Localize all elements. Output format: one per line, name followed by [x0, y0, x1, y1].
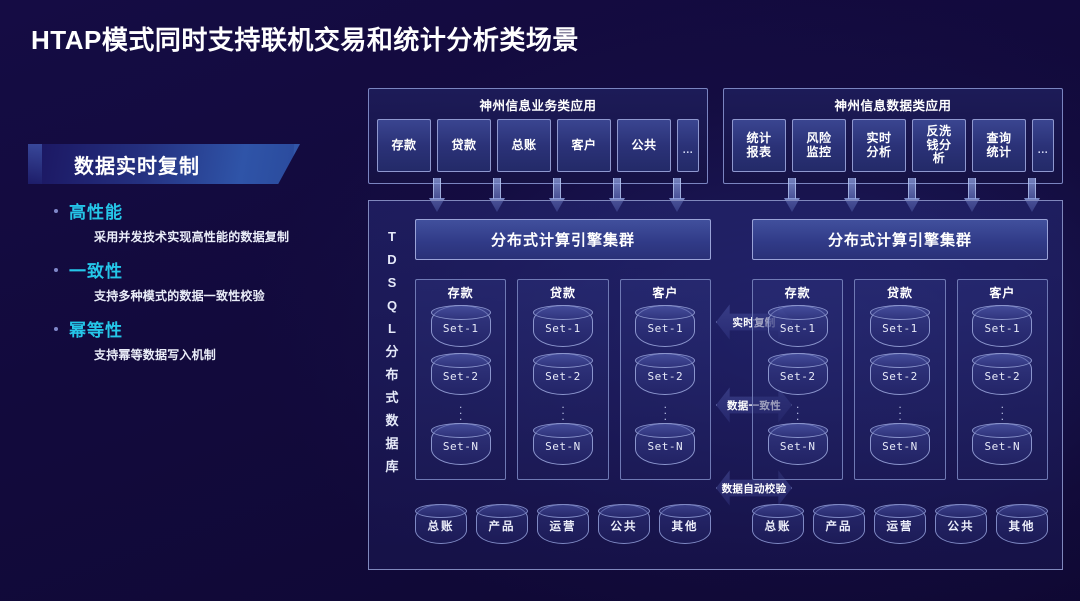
bottom-cylinder-label: 运营 — [887, 518, 914, 534]
set-cylinder: Set-N — [972, 423, 1032, 465]
bottom-cylinder-row: 总账 产品 运营 公共 其他 — [415, 504, 711, 544]
set-column: 贷款 Set-1 Set-2 ... Set-N — [517, 279, 608, 480]
bottom-cylinder-label: 公共 — [948, 518, 975, 534]
app-chip-row: 存款 贷款 总账 客户 公共 … — [377, 119, 699, 172]
set-label: Set-N — [648, 440, 684, 453]
tdsql-label-char: T — [379, 225, 405, 248]
app-chip[interactable]: 贷款 — [437, 119, 491, 172]
app-group-title: 神州信息业务类应用 — [377, 95, 699, 114]
bullet-row: 幂等性 — [54, 316, 338, 341]
slide-canvas: HTAP模式同时支持联机交易和统计分析类场景 数据实时复制 高性能 采用并发技术… — [0, 0, 1080, 601]
tdsql-label-char: D — [379, 248, 405, 271]
set-cylinder: Set-1 — [870, 305, 930, 347]
page-title: HTAP模式同时支持联机交易和统计分析类场景 — [31, 20, 579, 57]
bottom-cylinder: 运营 — [537, 504, 589, 544]
bottom-cylinder-row: 总账 产品 运营 公共 其他 — [752, 504, 1048, 544]
bottom-cylinder: 产品 — [476, 504, 528, 544]
app-chip-row: 统计报表 风险监控 实时分析 反洗钱分析 查询统计 … — [732, 119, 1054, 172]
bottom-cylinder: 产品 — [813, 504, 865, 544]
set-column: 客户 Set-1 Set-2 ... Set-N — [957, 279, 1048, 480]
app-chip[interactable]: 客户 — [557, 119, 611, 172]
set-column-title: 贷款 — [861, 284, 938, 301]
set-cylinder: Set-N — [635, 423, 695, 465]
set-label: Set-N — [545, 440, 581, 453]
tdsql-label-char: L — [379, 317, 405, 340]
set-cylinder: Set-2 — [768, 353, 828, 395]
banner-accent-bar — [28, 144, 42, 184]
set-label: Set-2 — [648, 370, 684, 383]
set-cylinder: Set-1 — [972, 305, 1032, 347]
bullet-dot-icon — [54, 268, 58, 272]
bottom-cylinder-label: 其他 — [672, 518, 699, 534]
bottom-cylinder-label: 公共 — [611, 518, 638, 534]
set-column-title: 客户 — [964, 284, 1041, 301]
tdsql-label-char: 数 — [379, 409, 405, 432]
feature-banner-title: 数据实时复制 — [74, 150, 200, 179]
set-label: Set-2 — [545, 370, 581, 383]
set-label: Set-1 — [545, 322, 581, 335]
compute-engine-bar: 分布式计算引擎集群 — [415, 219, 711, 260]
tdsql-label-char: 式 — [379, 386, 405, 409]
set-label: Set-N — [985, 440, 1021, 453]
set-column: 存款 Set-1 Set-2 ... Set-N — [415, 279, 506, 480]
set-cylinder: Set-2 — [635, 353, 695, 395]
set-label: Set-2 — [882, 370, 918, 383]
set-label: Set-2 — [985, 370, 1021, 383]
vertical-ellipsis-icon: ... — [964, 401, 1041, 419]
app-chip[interactable]: 统计报表 — [732, 119, 786, 172]
bottom-cylinder: 其他 — [996, 504, 1048, 544]
cluster-left: 分布式计算引擎集群 存款 Set-1 Set-2 ... Set-N 贷款 Se… — [415, 201, 711, 571]
bottom-cylinder-label: 产品 — [489, 518, 516, 534]
bullet-dot-icon — [54, 209, 58, 213]
set-cylinder: Set-N — [870, 423, 930, 465]
bullet-item-2: 幂等性 支持幂等数据写入机制 — [54, 316, 338, 363]
set-column-title: 贷款 — [524, 284, 601, 301]
set-cylinder: Set-1 — [533, 305, 593, 347]
set-label: Set-1 — [882, 322, 918, 335]
app-group-business: 神州信息业务类应用 存款 贷款 总账 客户 公共 … — [368, 88, 708, 184]
bottom-cylinder-label: 总账 — [428, 518, 455, 534]
app-chip[interactable]: 公共 — [617, 119, 671, 172]
set-column-row: 存款 Set-1 Set-2 ... Set-N 贷款 Set-1 Set-2 … — [415, 279, 711, 480]
bottom-cylinder: 公共 — [598, 504, 650, 544]
app-group-title: 神州信息数据类应用 — [732, 95, 1054, 114]
app-chip-overflow[interactable]: … — [1032, 119, 1054, 172]
tdsql-label-char: 据 — [379, 432, 405, 455]
bullet-heading: 高性能 — [69, 198, 123, 223]
app-group-data: 神州信息数据类应用 统计报表 风险监控 实时分析 反洗钱分析 查询统计 … — [723, 88, 1063, 184]
bullet-description: 支持多种模式的数据一致性校验 — [94, 287, 338, 304]
bullet-heading: 一致性 — [69, 257, 123, 282]
bullet-row: 一致性 — [54, 257, 338, 282]
set-cylinder: Set-2 — [431, 353, 491, 395]
compute-engine-bar: 分布式计算引擎集群 — [752, 219, 1048, 260]
bottom-cylinder-label: 产品 — [826, 518, 853, 534]
bottom-cylinder: 其他 — [659, 504, 711, 544]
set-cylinder: Set-1 — [768, 305, 828, 347]
cluster-right: 分布式计算引擎集群 存款 Set-1 Set-2 ... Set-N 贷款 Se… — [752, 201, 1048, 571]
tdsql-label-char: Q — [379, 294, 405, 317]
architecture-diagram: 神州信息业务类应用 存款 贷款 总账 客户 公共 … 神州信息数据类应用 统计报… — [368, 88, 1063, 570]
app-chip[interactable]: 反洗钱分析 — [912, 119, 966, 172]
vertical-ellipsis-icon: ... — [861, 401, 938, 419]
set-column-title: 存款 — [422, 284, 499, 301]
set-cylinder: Set-N — [431, 423, 491, 465]
bottom-cylinder: 总账 — [415, 504, 467, 544]
bullet-dot-icon — [54, 327, 58, 331]
set-column-title: 客户 — [627, 284, 704, 301]
set-column: 客户 Set-1 Set-2 ... Set-N — [620, 279, 711, 480]
vertical-ellipsis-icon: ... — [627, 401, 704, 419]
feature-banner: 数据实时复制 — [28, 144, 300, 184]
app-chip[interactable]: 存款 — [377, 119, 431, 172]
bottom-cylinder: 运营 — [874, 504, 926, 544]
tdsql-vertical-label: T D S Q L 分 布 式 数 据 库 — [379, 225, 405, 478]
feature-bullet-list: 高性能 采用并发技术实现高性能的数据复制 一致性 支持多种模式的数据一致性校验 … — [28, 198, 338, 363]
set-label: Set-N — [882, 440, 918, 453]
bullet-item-0: 高性能 采用并发技术实现高性能的数据复制 — [54, 198, 338, 245]
set-label: Set-1 — [780, 322, 816, 335]
set-cylinder: Set-2 — [972, 353, 1032, 395]
set-cylinder: Set-1 — [431, 305, 491, 347]
bottom-cylinder: 公共 — [935, 504, 987, 544]
set-cylinder: Set-2 — [533, 353, 593, 395]
vertical-ellipsis-icon: ... — [759, 401, 836, 419]
bullet-description: 采用并发技术实现高性能的数据复制 — [94, 228, 338, 245]
app-chip[interactable]: 总账 — [497, 119, 551, 172]
tdsql-label-char: 布 — [379, 363, 405, 386]
set-cylinder: Set-N — [533, 423, 593, 465]
set-label: Set-N — [780, 440, 816, 453]
app-chip[interactable]: 风险监控 — [792, 119, 846, 172]
set-label: Set-N — [443, 440, 479, 453]
tdsql-label-char: 库 — [379, 455, 405, 478]
bullet-row: 高性能 — [54, 198, 338, 223]
app-chip[interactable]: 实时分析 — [852, 119, 906, 172]
vertical-ellipsis-icon: ... — [422, 401, 499, 419]
app-chip-overflow[interactable]: … — [677, 119, 699, 172]
vertical-ellipsis-icon: ... — [524, 401, 601, 419]
bottom-cylinder: 总账 — [752, 504, 804, 544]
tdsql-panel: T D S Q L 分 布 式 数 据 库 分布式计算引擎集群 存款 Set-1 — [368, 200, 1063, 570]
set-label: Set-2 — [443, 370, 479, 383]
set-label: Set-1 — [443, 322, 479, 335]
bullet-heading: 幂等性 — [69, 316, 123, 341]
feature-panel: 数据实时复制 高性能 采用并发技术实现高性能的数据复制 一致性 支持多种模式的数… — [28, 144, 338, 375]
bullet-description: 支持幂等数据写入机制 — [94, 346, 338, 363]
set-column-row: 存款 Set-1 Set-2 ... Set-N 贷款 Set-1 Set-2 … — [752, 279, 1048, 480]
tdsql-label-char: 分 — [379, 340, 405, 363]
set-label: Set-2 — [780, 370, 816, 383]
set-column: 存款 Set-1 Set-2 ... Set-N — [752, 279, 843, 480]
bottom-cylinder-label: 运营 — [550, 518, 577, 534]
set-column-title: 存款 — [759, 284, 836, 301]
set-cylinder: Set-2 — [870, 353, 930, 395]
set-cylinder: Set-1 — [635, 305, 695, 347]
bottom-cylinder-label: 其他 — [1009, 518, 1036, 534]
set-column: 贷款 Set-1 Set-2 ... Set-N — [854, 279, 945, 480]
set-cylinder: Set-N — [768, 423, 828, 465]
set-label: Set-1 — [985, 322, 1021, 335]
tdsql-label-char: S — [379, 271, 405, 294]
bottom-cylinder-label: 总账 — [765, 518, 792, 534]
bullet-item-1: 一致性 支持多种模式的数据一致性校验 — [54, 257, 338, 304]
app-chip[interactable]: 查询统计 — [972, 119, 1026, 172]
set-label: Set-1 — [648, 322, 684, 335]
